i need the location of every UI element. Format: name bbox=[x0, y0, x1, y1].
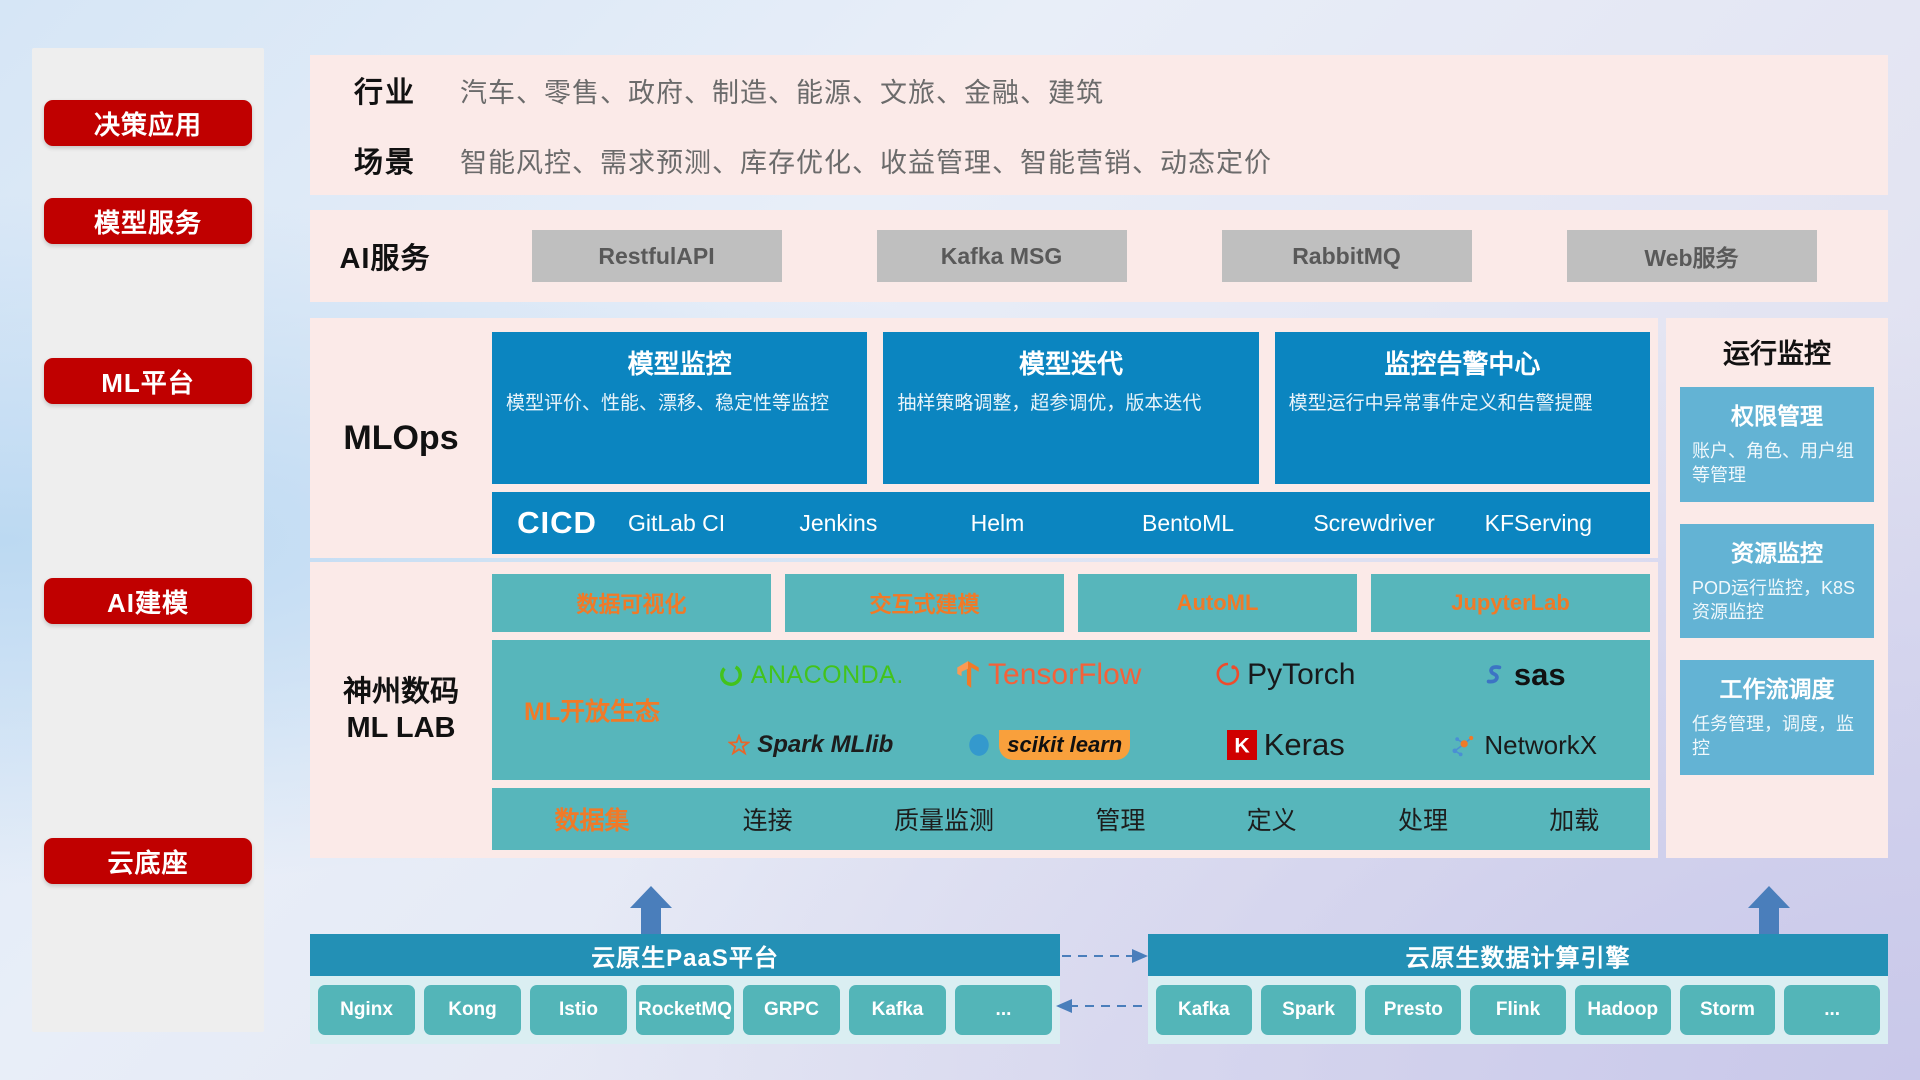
ai-service-box-restfulapi[interactable]: RestfulAPI bbox=[532, 230, 782, 282]
cicd-item-kfserving[interactable]: KFServing bbox=[1479, 492, 1650, 540]
scikit-learn-logo: scikit learn bbox=[966, 730, 1130, 760]
scikit-blue-blob-icon bbox=[966, 732, 992, 758]
card-desc: 账户、角色、用户组等管理 bbox=[1692, 439, 1862, 488]
anaconda-logo: ANACONDA. bbox=[718, 661, 904, 690]
ml-ecosystem-logos: ANACONDA. TensorFlow PyTorch bbox=[692, 640, 1650, 780]
card-desc: 模型运行中异常事件定义和告警提醒 bbox=[1289, 391, 1636, 417]
card-title: 权限管理 bbox=[1692, 397, 1862, 431]
dataset-label: 数据集 bbox=[492, 801, 692, 837]
tensorflow-logo: TensorFlow bbox=[955, 658, 1141, 692]
sas-logo: sas bbox=[1481, 657, 1566, 693]
dataset-row: 数据集 连接 质量监测 管理 定义 处理 加载 bbox=[492, 788, 1650, 850]
pytorch-logo: PyTorch bbox=[1216, 658, 1355, 692]
dataset-item-process[interactable]: 处理 bbox=[1398, 801, 1448, 837]
pytorch-icon bbox=[1216, 661, 1240, 689]
card-title: 模型迭代 bbox=[897, 344, 1244, 381]
left-rail: 决策应用 模型服务 ML平台 AI建模 云底座 bbox=[32, 48, 264, 1032]
mlops-key: MLOps bbox=[310, 318, 492, 558]
svg-text:K: K bbox=[1234, 734, 1250, 758]
anaconda-icon bbox=[718, 662, 744, 688]
scikit-learn-label: scikit learn bbox=[999, 730, 1130, 760]
monitoring-card-resources[interactable]: 资源监控 POD运行监控，K8S资源监控 bbox=[1680, 524, 1874, 639]
dataset-item-quality[interactable]: 质量监测 bbox=[894, 801, 994, 837]
monitoring-card-workflow[interactable]: 工作流调度 任务管理，调度，监控 bbox=[1680, 660, 1874, 775]
anaconda-label: ANACONDA. bbox=[751, 661, 904, 690]
cicd-item-bentoml[interactable]: BentoML bbox=[1136, 492, 1307, 540]
spark-star-icon bbox=[728, 734, 750, 756]
ai-modeling-key-line1: 神州数码 bbox=[343, 674, 459, 710]
dataset-items: 连接 质量监测 管理 定义 处理 加载 bbox=[692, 801, 1650, 837]
ml-ecosystem-row: ML开放生态 ANACONDA. TensorFlow bbox=[492, 640, 1650, 780]
compute-chip-tray: Kafka Spark Presto Flink Hadoop Storm ..… bbox=[1148, 976, 1888, 1044]
paas-up-arrow-icon bbox=[628, 886, 674, 934]
dataset-item-manage[interactable]: 管理 bbox=[1095, 801, 1145, 837]
dataset-item-connect[interactable]: 连接 bbox=[743, 801, 793, 837]
cloud-compute-group: 云原生数据计算引擎 Kafka Spark Presto Flink Hadoo… bbox=[1148, 934, 1888, 1044]
ai-service-box-web[interactable]: Web服务 bbox=[1567, 230, 1817, 282]
industry-key: 行业 bbox=[310, 69, 460, 111]
modeling-tools-row: 数据可视化 交互式建模 AutoML JupyterLab bbox=[492, 574, 1650, 632]
networkx-label: NetworkX bbox=[1484, 730, 1597, 761]
mlops-cards: 模型监控 模型评价、性能、漂移、稳定性等监控 模型迭代 抽样策略调整，超参调优，… bbox=[492, 332, 1650, 484]
compute-bar-label: 云原生数据计算引擎 bbox=[1148, 934, 1888, 976]
rail-label: 云底座 bbox=[107, 843, 188, 880]
dataset-item-load[interactable]: 加载 bbox=[1549, 801, 1599, 837]
industry-row: 行业 汽车、零售、政府、制造、能源、文旅、金融、建筑 bbox=[310, 55, 1888, 125]
rail-item-cloud-base[interactable]: 云底座 bbox=[44, 838, 252, 884]
applications-panel: 行业 汽车、零售、政府、制造、能源、文旅、金融、建筑 场景 智能风控、需求预测、… bbox=[310, 55, 1888, 195]
card-title: 监控告警中心 bbox=[1289, 344, 1636, 381]
ml-ecosystem-label: ML开放生态 bbox=[492, 692, 692, 728]
ai-modeling-key: 神州数码 ML LAB bbox=[310, 562, 492, 858]
cicd-item-screwdriver[interactable]: Screwdriver bbox=[1307, 492, 1478, 540]
connector-arrow-right-icon bbox=[1132, 949, 1148, 963]
tool-jupyterlab[interactable]: JupyterLab bbox=[1371, 574, 1650, 632]
pytorch-label: PyTorch bbox=[1247, 658, 1355, 692]
paas-chip-more[interactable]: ... bbox=[955, 985, 1052, 1035]
cicd-title: CICD bbox=[492, 505, 622, 541]
industry-value: 汽车、零售、政府、制造、能源、文旅、金融、建筑 bbox=[460, 71, 1104, 110]
keras-logo: K Keras bbox=[1227, 727, 1345, 763]
tensorflow-icon bbox=[955, 660, 981, 690]
card-title: 模型监控 bbox=[506, 344, 853, 381]
tool-data-visualization[interactable]: 数据可视化 bbox=[492, 574, 771, 632]
spark-mllib-logo: Spark MLlib bbox=[728, 731, 893, 759]
card-desc: 模型评价、性能、漂移、稳定性等监控 bbox=[506, 391, 853, 417]
cicd-row: CICD GitLab CI Jenkins Helm BentoML Scre… bbox=[492, 492, 1650, 554]
compute-chip-more[interactable]: ... bbox=[1784, 985, 1880, 1035]
spark-mllib-label: Spark MLlib bbox=[757, 731, 893, 759]
paas-chip-nginx[interactable]: Nginx bbox=[318, 985, 415, 1035]
paas-chip-tray: Nginx Kong Istio RocketMQ GRPC Kafka ... bbox=[310, 976, 1060, 1044]
scenario-key: 场景 bbox=[310, 139, 460, 181]
rail-item-ml-platform[interactable]: ML平台 bbox=[44, 358, 252, 404]
cloud-paas-group: 云原生PaaS平台 Nginx Kong Istio RocketMQ GRPC… bbox=[310, 934, 1060, 1044]
compute-chip-hadoop[interactable]: Hadoop bbox=[1575, 985, 1671, 1035]
rail-label: 决策应用 bbox=[94, 105, 202, 142]
tool-interactive-modeling[interactable]: 交互式建模 bbox=[785, 574, 1064, 632]
card-desc: 任务管理，调度，监控 bbox=[1692, 712, 1862, 761]
cicd-item-gitlab-ci[interactable]: GitLab CI bbox=[622, 492, 793, 540]
paas-chip-rocketmq[interactable]: RocketMQ bbox=[636, 985, 734, 1035]
mlops-card-model-iteration[interactable]: 模型迭代 抽样策略调整，超参调优，版本迭代 bbox=[883, 332, 1258, 484]
sas-icon bbox=[1481, 662, 1507, 688]
paas-chip-kafka[interactable]: Kafka bbox=[849, 985, 946, 1035]
mlops-panel: MLOps 模型监控 模型评价、性能、漂移、稳定性等监控 模型迭代 抽样策略调整… bbox=[310, 318, 1658, 558]
compute-chip-spark[interactable]: Spark bbox=[1261, 985, 1357, 1035]
scenario-row: 场景 智能风控、需求预测、库存优化、收益管理、智能营销、动态定价 bbox=[310, 125, 1888, 195]
rail-item-decision-apps[interactable]: 决策应用 bbox=[44, 100, 252, 146]
ai-service-box-kafka-msg[interactable]: Kafka MSG bbox=[877, 230, 1127, 282]
mlops-card-model-monitoring[interactable]: 模型监控 模型评价、性能、漂移、稳定性等监控 bbox=[492, 332, 867, 484]
compute-up-arrow-icon bbox=[1746, 886, 1792, 934]
compute-chip-kafka[interactable]: Kafka bbox=[1156, 985, 1252, 1035]
networkx-graph-icon bbox=[1449, 731, 1477, 759]
compute-chip-flink[interactable]: Flink bbox=[1470, 985, 1566, 1035]
tool-automl[interactable]: AutoML bbox=[1078, 574, 1357, 632]
ai-modeling-panel: 神州数码 ML LAB 数据可视化 交互式建模 AutoML JupyterLa… bbox=[310, 562, 1658, 858]
ai-service-key: AI服务 bbox=[310, 235, 460, 277]
card-title: 工作流调度 bbox=[1692, 670, 1862, 704]
paas-chip-grpc[interactable]: GRPC bbox=[743, 985, 840, 1035]
rail-item-model-service[interactable]: 模型服务 bbox=[44, 198, 252, 244]
paas-chip-kong[interactable]: Kong bbox=[424, 985, 521, 1035]
ai-modeling-key-line2: ML LAB bbox=[346, 710, 455, 746]
rail-label: AI建模 bbox=[107, 583, 189, 620]
compute-chip-storm[interactable]: Storm bbox=[1680, 985, 1776, 1035]
compute-chip-presto[interactable]: Presto bbox=[1365, 985, 1461, 1035]
networkx-logo: NetworkX bbox=[1449, 730, 1597, 761]
rail-item-ai-modeling[interactable]: AI建模 bbox=[44, 578, 252, 624]
rail-label: ML平台 bbox=[101, 363, 195, 400]
dataset-item-define[interactable]: 定义 bbox=[1247, 801, 1297, 837]
mlops-card-alert-center[interactable]: 监控告警中心 模型运行中异常事件定义和告警提醒 bbox=[1275, 332, 1650, 484]
cicd-item-jenkins[interactable]: Jenkins bbox=[793, 492, 964, 540]
ai-service-boxes: RestfulAPI Kafka MSG RabbitMQ Web服务 bbox=[460, 230, 1888, 282]
card-desc: 抽样策略调整，超参调优，版本迭代 bbox=[897, 391, 1244, 417]
card-title: 资源监控 bbox=[1692, 534, 1862, 568]
scenario-value: 智能风控、需求预测、库存优化、收益管理、智能营销、动态定价 bbox=[460, 141, 1272, 180]
monitoring-card-permissions[interactable]: 权限管理 账户、角色、用户组等管理 bbox=[1680, 387, 1874, 502]
ai-service-box-rabbitmq[interactable]: RabbitMQ bbox=[1222, 230, 1472, 282]
tensorflow-label: TensorFlow bbox=[988, 658, 1141, 692]
keras-icon: K bbox=[1227, 730, 1257, 760]
paas-chip-istio[interactable]: Istio bbox=[530, 985, 627, 1035]
monitoring-panel: 运行监控 权限管理 账户、角色、用户组等管理 资源监控 POD运行监控，K8S资… bbox=[1666, 318, 1888, 858]
ai-service-panel: AI服务 RestfulAPI Kafka MSG RabbitMQ Web服务 bbox=[310, 210, 1888, 302]
rail-label: 模型服务 bbox=[94, 203, 202, 240]
keras-label: Keras bbox=[1264, 727, 1345, 763]
paas-bar-label: 云原生PaaS平台 bbox=[310, 934, 1060, 976]
sas-label: sas bbox=[1514, 657, 1566, 693]
card-desc: POD运行监控，K8S资源监控 bbox=[1692, 576, 1862, 625]
monitoring-title: 运行监控 bbox=[1666, 318, 1888, 387]
cicd-item-helm[interactable]: Helm bbox=[965, 492, 1136, 540]
